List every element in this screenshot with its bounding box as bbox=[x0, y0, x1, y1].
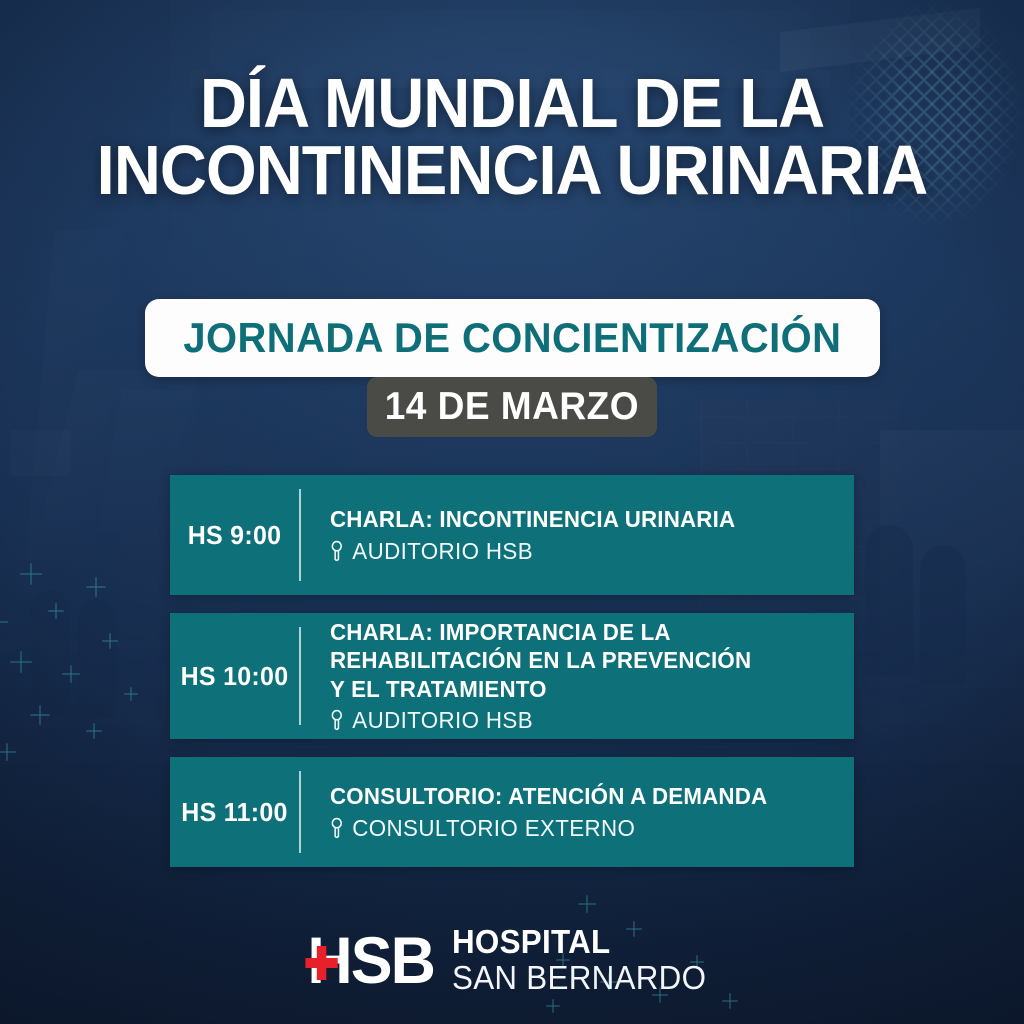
subtitle-banner-label: JORNADA DE CONCIENTIZACIÓN bbox=[183, 314, 841, 362]
schedule-row-title-line: CHARLA: INCONTINENCIA URINARIA bbox=[330, 505, 735, 533]
schedule-row-time: HS 11:00 bbox=[173, 797, 297, 828]
schedule-row-place: AUDITORIO HSB bbox=[330, 538, 735, 565]
map-pin-icon bbox=[330, 540, 344, 562]
schedule-row: HS 11:00 CONSULTORIO: ATENCIÓN A DEMANDA… bbox=[170, 757, 854, 867]
subtitle-banner: JORNADA DE CONCIENTIZACIÓN bbox=[145, 299, 880, 377]
schedule-row-title: CHARLA: IMPORTANCIA DE LA REHABILITACIÓN… bbox=[330, 618, 751, 702]
red-cross-icon bbox=[306, 946, 338, 980]
schedule-row-place: CONSULTORIO EXTERNO bbox=[330, 815, 767, 842]
schedule-row-title-line: CHARLA: IMPORTANCIA DE LA bbox=[330, 618, 751, 646]
map-pin-icon bbox=[330, 817, 344, 839]
logo-monogram: HSB bbox=[308, 927, 435, 993]
date-badge: 14 DE MARZO bbox=[367, 377, 657, 437]
headline-line-1: DÍA MUNDIAL DE LA bbox=[36, 70, 988, 137]
schedule-row-title: CHARLA: INCONTINENCIA URINARIA bbox=[330, 505, 735, 533]
schedule-row-place-label: AUDITORIO HSB bbox=[352, 707, 533, 734]
map-pin-icon bbox=[330, 709, 344, 731]
schedule-row-title-line: REHABILITACIÓN EN LA PREVENCIÓN bbox=[330, 646, 751, 674]
schedule-row: HS 9:00 CHARLA: INCONTINENCIA URINARIA A… bbox=[170, 475, 854, 595]
schedule-row-place-label: AUDITORIO HSB bbox=[352, 538, 533, 565]
poster-headline: DÍA MUNDIAL DE LA INCONTINENCIA URINARIA bbox=[36, 70, 988, 203]
logo-word-line-2: SAN BERNARDO bbox=[452, 961, 706, 994]
schedule-row-title-line: Y EL TRATAMIENTO bbox=[330, 675, 751, 703]
schedule-row-place: AUDITORIO HSB bbox=[330, 707, 751, 734]
schedule-row-place-label: CONSULTORIO EXTERNO bbox=[352, 815, 635, 842]
schedule-row-body: CHARLA: INCONTINENCIA URINARIA AUDITORIO… bbox=[301, 505, 762, 564]
schedule-row-title-line: CONSULTORIO: ATENCIÓN A DEMANDA bbox=[330, 782, 767, 810]
schedule-row: HS 10:00 CHARLA: IMPORTANCIA DE LA REHAB… bbox=[170, 613, 854, 739]
schedule-row-body: CHARLA: IMPORTANCIA DE LA REHABILITACIÓN… bbox=[301, 618, 778, 733]
poster-canvas: DÍA MUNDIAL DE LA INCONTINENCIA URINARIA… bbox=[0, 0, 1024, 1024]
logo-word-line-1: HOSPITAL bbox=[452, 925, 706, 958]
schedule-row-title: CONSULTORIO: ATENCIÓN A DEMANDA bbox=[330, 782, 767, 810]
schedule-list: HS 9:00 CHARLA: INCONTINENCIA URINARIA A… bbox=[170, 475, 854, 885]
headline-line-2: INCONTINENCIA URINARIA bbox=[36, 137, 988, 204]
schedule-row-body: CONSULTORIO: ATENCIÓN A DEMANDA CONSULTO… bbox=[301, 782, 795, 841]
schedule-row-time: HS 10:00 bbox=[173, 661, 297, 692]
schedule-row-time: HS 9:00 bbox=[173, 520, 297, 551]
date-badge-label: 14 DE MARZO bbox=[385, 385, 639, 429]
logo-wordmark: HOSPITAL SAN BERNARDO bbox=[452, 925, 720, 994]
hospital-logo: HSB HOSPITAL SAN BERNARDO bbox=[0, 925, 1024, 994]
